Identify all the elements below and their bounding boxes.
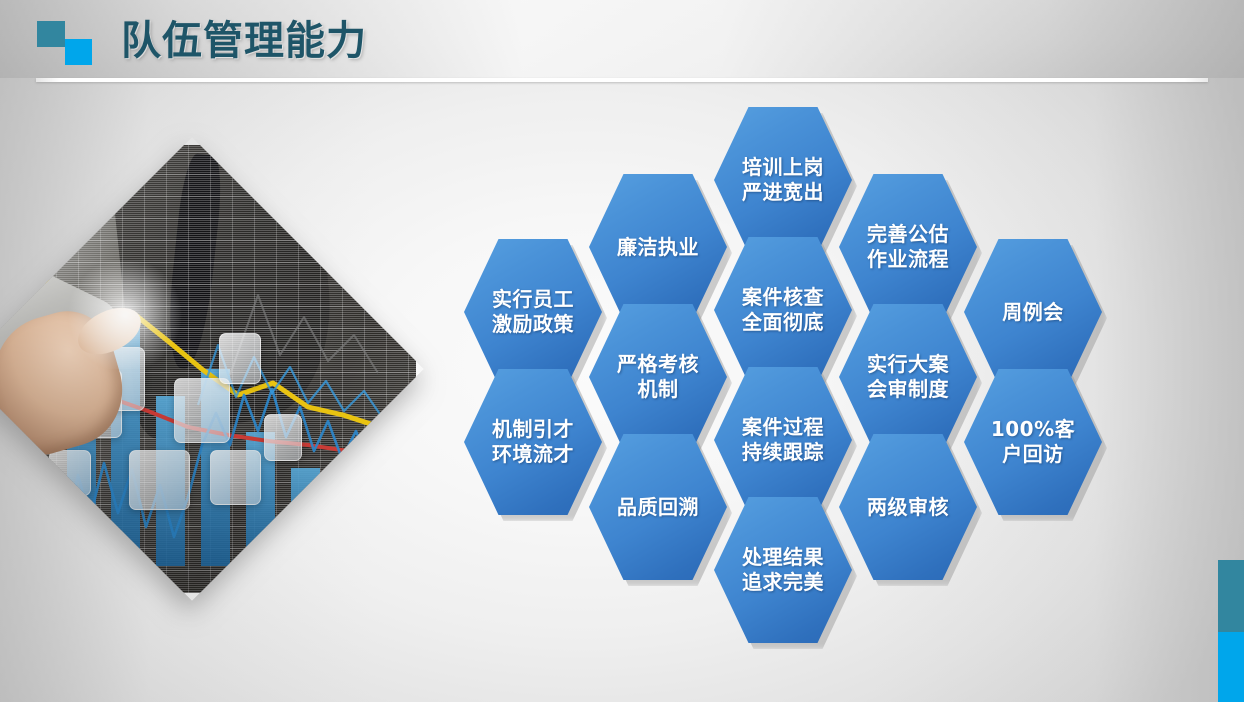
- edge-bar-teal: [1218, 560, 1244, 632]
- hexagon-label: 实行员工 激励政策: [488, 287, 578, 337]
- hexagon-label: 培训上岗 严进宽出: [738, 155, 828, 205]
- hexagon-label: 严格考核 机制: [613, 352, 703, 402]
- edge-bar-blue: [1218, 632, 1244, 702]
- hexagon-label: 两级审核: [863, 495, 953, 520]
- hexagon-label: 完善公估 作业流程: [863, 222, 953, 272]
- hexagon-label: 机制引才 环境流才: [488, 417, 578, 467]
- slide-canvas: 队伍管理能力: [0, 0, 1244, 702]
- hexagon-label: 处理结果 追求完美: [738, 545, 828, 595]
- hexagon-label: 廉洁执业: [613, 235, 703, 260]
- hexagon-label: 实行大案 会审制度: [863, 352, 953, 402]
- hexagon-label: 100%客 户回访: [987, 417, 1079, 467]
- hexagon-grid: 实行员工 激励政策机制引才 环境流才廉洁执业严格考核 机制品质回溯培训上岗 严进…: [0, 0, 1244, 702]
- hexagon-label: 案件过程 持续跟踪: [738, 415, 828, 465]
- hexagon-label: 品质回溯: [613, 495, 703, 520]
- hexagon-label: 案件核查 全面彻底: [738, 285, 828, 335]
- hexagon-label: 周例会: [998, 300, 1068, 325]
